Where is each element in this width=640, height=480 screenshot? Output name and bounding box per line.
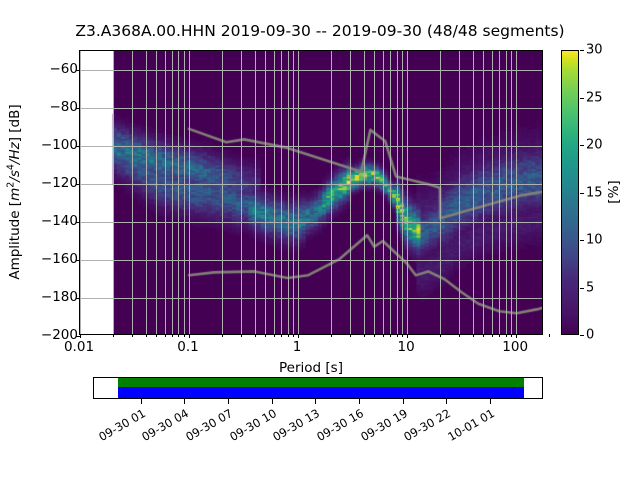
x-major-tick <box>80 334 81 338</box>
x-minor-tick <box>274 334 275 337</box>
colorbar-tick <box>580 50 584 51</box>
x-gridline <box>364 51 365 334</box>
colorbar-tick-label: 25 <box>586 90 603 105</box>
y-tick-label: −160 <box>41 251 78 267</box>
x-gridline <box>397 51 398 334</box>
y-gridline <box>80 222 542 223</box>
colorbar-tick <box>580 193 584 194</box>
x-minor-tick <box>473 334 474 337</box>
y-gridline <box>80 108 542 109</box>
timeline-tick <box>272 399 273 404</box>
x-gridline <box>274 51 275 334</box>
x-gridline <box>390 51 391 334</box>
x-minor-tick <box>165 334 166 337</box>
x-gridline <box>350 51 351 334</box>
y-tick-label: −180 <box>41 289 78 305</box>
x-gridline <box>440 51 441 334</box>
y-axis-title: Amplitude [m2/s4/Hz] [dB] <box>5 104 23 279</box>
x-minor-tick <box>293 334 294 337</box>
y-gridline <box>80 298 542 299</box>
x-gridline <box>80 51 81 334</box>
x-gridline <box>459 51 460 334</box>
timeline-tick <box>228 399 229 404</box>
x-minor-tick <box>440 334 441 337</box>
x-minor-tick <box>397 334 398 337</box>
x-major-tick <box>407 334 408 338</box>
x-minor-tick <box>184 334 185 337</box>
x-gridline <box>255 51 256 334</box>
x-minor-tick <box>350 334 351 337</box>
x-gridline <box>492 51 493 334</box>
x-minor-tick <box>374 334 375 337</box>
x-minor-tick <box>511 334 512 337</box>
timeline-tick <box>184 399 185 404</box>
x-minor-tick <box>492 334 493 337</box>
x-gridline <box>506 51 507 334</box>
x-gridline <box>113 51 114 334</box>
x-gridline <box>241 51 242 334</box>
timeline-coverage-bar <box>118 378 524 387</box>
ppsd-axes <box>79 50 543 335</box>
x-gridline <box>473 51 474 334</box>
x-minor-tick <box>265 334 266 337</box>
y-gridline <box>80 260 542 261</box>
x-gridline <box>281 51 282 334</box>
y-gridline <box>80 70 542 71</box>
x-tick-label: 100 <box>502 339 528 355</box>
ppsd-plot-area <box>80 51 542 334</box>
x-minor-tick <box>178 334 179 337</box>
timeline-tick <box>359 399 360 404</box>
y-tick-label: −80 <box>50 99 79 115</box>
y-tick-label: −120 <box>41 175 78 191</box>
x-gridline <box>483 51 484 334</box>
timeline-tick <box>315 399 316 404</box>
colorbar-tick <box>580 145 584 146</box>
x-minor-tick <box>390 334 391 337</box>
x-tick-label: 0.1 <box>177 339 198 355</box>
colorbar <box>561 50 579 335</box>
x-major-tick <box>516 334 517 338</box>
timeline-data-bar <box>118 387 524 398</box>
colorbar-tick <box>580 288 584 289</box>
x-minor-tick <box>132 334 133 337</box>
x-tick-label: 1 <box>293 339 302 355</box>
timeline-axes <box>93 377 543 399</box>
timeline-tick <box>446 399 447 404</box>
x-minor-tick <box>459 334 460 337</box>
x-minor-tick <box>331 334 332 337</box>
colorbar-tick-label: 20 <box>586 138 603 153</box>
x-minor-tick <box>383 334 384 337</box>
colorbar-tick <box>580 240 584 241</box>
x-minor-tick <box>113 334 114 337</box>
y-gridline <box>80 184 542 185</box>
x-gridline <box>293 51 294 334</box>
colorbar-tick-label: 0 <box>586 328 594 343</box>
x-gridline <box>516 51 517 334</box>
x-minor-tick <box>156 334 157 337</box>
x-minor-tick <box>549 334 550 337</box>
y-tick-label: −140 <box>41 213 78 229</box>
colorbar-title: [%] <box>606 180 622 203</box>
x-minor-tick <box>172 334 173 337</box>
x-gridline <box>499 51 500 334</box>
figure-title: Z3.A368A.00.HHN 2019-09-30 -- 2019-09-30… <box>0 22 640 40</box>
colorbar-tick <box>580 335 584 336</box>
x-axis-title: Period [s] <box>79 360 543 376</box>
colorbar-tick <box>580 98 584 99</box>
x-gridline <box>132 51 133 334</box>
x-gridline <box>189 51 190 334</box>
x-major-tick <box>189 334 190 338</box>
x-gridline <box>222 51 223 334</box>
x-minor-tick <box>255 334 256 337</box>
x-minor-tick <box>506 334 507 337</box>
x-minor-tick <box>402 334 403 337</box>
colorbar-tick-label: 30 <box>586 43 603 58</box>
x-minor-tick <box>146 334 147 337</box>
colorbar-tick-label: 5 <box>586 280 594 295</box>
x-major-tick <box>298 334 299 338</box>
x-minor-tick <box>499 334 500 337</box>
x-gridline <box>383 51 384 334</box>
x-gridline <box>184 51 185 334</box>
x-gridline <box>156 51 157 334</box>
x-gridline <box>178 51 179 334</box>
x-gridline <box>407 51 408 334</box>
x-minor-tick <box>364 334 365 337</box>
x-minor-tick <box>241 334 242 337</box>
x-minor-tick <box>483 334 484 337</box>
y-tick-label: −100 <box>41 137 78 153</box>
y-tick-label: −60 <box>50 61 79 77</box>
ppsd-figure: Z3.A368A.00.HHN 2019-09-30 -- 2019-09-30… <box>0 0 640 480</box>
x-tick-label: 10 <box>398 339 415 355</box>
timeline-tick <box>490 399 491 404</box>
x-gridline <box>165 51 166 334</box>
x-minor-tick <box>222 334 223 337</box>
x-minor-tick <box>281 334 282 337</box>
x-minor-tick <box>288 334 289 337</box>
x-gridline <box>265 51 266 334</box>
y-gridline <box>80 146 542 147</box>
x-gridline <box>298 51 299 334</box>
colorbar-tick-label: 10 <box>586 233 603 248</box>
x-gridline <box>288 51 289 334</box>
x-gridline <box>374 51 375 334</box>
x-gridline <box>172 51 173 334</box>
colorbar-tick-label: 15 <box>586 185 603 200</box>
x-gridline <box>146 51 147 334</box>
timeline-tick <box>403 399 404 404</box>
x-gridline <box>402 51 403 334</box>
x-gridline <box>511 51 512 334</box>
timeline-tick <box>141 399 142 404</box>
x-gridline <box>331 51 332 334</box>
y-tick-label: −200 <box>41 327 78 343</box>
